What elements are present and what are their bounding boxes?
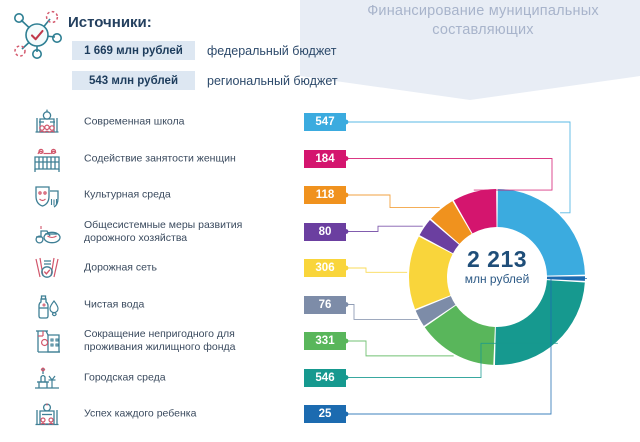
- legend-label: Содействие занятости женщин: [84, 152, 289, 165]
- source-amount-federal: 1 669 млн рублей: [72, 41, 195, 60]
- source-row-federal: 1 669 млн рублей федеральный бюджет: [72, 41, 336, 60]
- leader-dot: [344, 120, 349, 125]
- source-label-federal: федеральный бюджет: [207, 44, 336, 58]
- legend-label: Общесистемные меры развития дорожного хо…: [84, 219, 289, 245]
- source-label-regional: региональный бюджет: [207, 74, 338, 88]
- legend-row: Городская среда546: [0, 360, 350, 396]
- legend-row: Чистая вода76: [0, 287, 350, 323]
- legend-label: Успех каждого ребенка: [84, 408, 289, 421]
- legend-label: Культурная среда: [84, 189, 289, 202]
- road-sign-icon: [30, 251, 64, 285]
- legend-row: Содействие занятости женщин184: [0, 141, 350, 177]
- crib-icon: [30, 142, 64, 176]
- leader-line: [346, 341, 454, 356]
- leader-dot: [344, 302, 349, 307]
- page-title: Финансирование муниципальных составляющи…: [330, 2, 636, 40]
- legend-row: Современная школа547: [0, 104, 350, 140]
- legend-label: Сокращение непригодного для проживания ж…: [84, 328, 289, 354]
- sources-title: Источники:: [68, 14, 152, 31]
- road-roller-icon: [30, 215, 64, 249]
- water-bottle-icon: [30, 288, 64, 322]
- leader-dot: [344, 412, 349, 417]
- donut-slice: [497, 189, 584, 276]
- leader-dot: [344, 339, 349, 344]
- donut-chart: [336, 100, 640, 442]
- leader-line: [346, 268, 407, 272]
- legend-row: Общесистемные меры развития дорожного хо…: [0, 214, 350, 250]
- city-park-icon: [30, 361, 64, 395]
- leader-line: [346, 195, 440, 208]
- source-row-regional: 543 млн рублей региональный бюджет: [72, 71, 338, 90]
- legend-row: Дорожная сеть306: [0, 250, 350, 286]
- legend-label: Городская среда: [84, 371, 289, 384]
- school-icon: [30, 105, 64, 139]
- legend-label: Чистая вода: [84, 298, 289, 311]
- leader-dot: [344, 229, 349, 234]
- source-amount-regional: 543 млн рублей: [72, 71, 195, 90]
- legend-label: Дорожная сеть: [84, 262, 289, 275]
- child-success-icon: [30, 397, 64, 431]
- legend-label: Современная школа: [84, 116, 289, 129]
- leader-dot: [344, 193, 349, 198]
- legend-row: Сокращение непригодного для проживания ж…: [0, 323, 350, 359]
- legend-row: Успех каждого ребенка25: [0, 396, 350, 432]
- theatre-masks-icon: [30, 178, 64, 212]
- leader-line: [346, 305, 418, 320]
- leader-dot: [344, 156, 349, 161]
- leader-dot: [344, 266, 349, 271]
- legend-row: Культурная среда118: [0, 177, 350, 213]
- infographic-root: Финансирование муниципальных составляющи…: [0, 0, 640, 442]
- leader-line: [346, 159, 552, 191]
- leader-dot: [344, 375, 349, 380]
- donut-slice: [495, 280, 585, 365]
- network-check-icon: [8, 6, 66, 64]
- leader-line: [346, 226, 423, 231]
- crane-house-icon: [30, 324, 64, 358]
